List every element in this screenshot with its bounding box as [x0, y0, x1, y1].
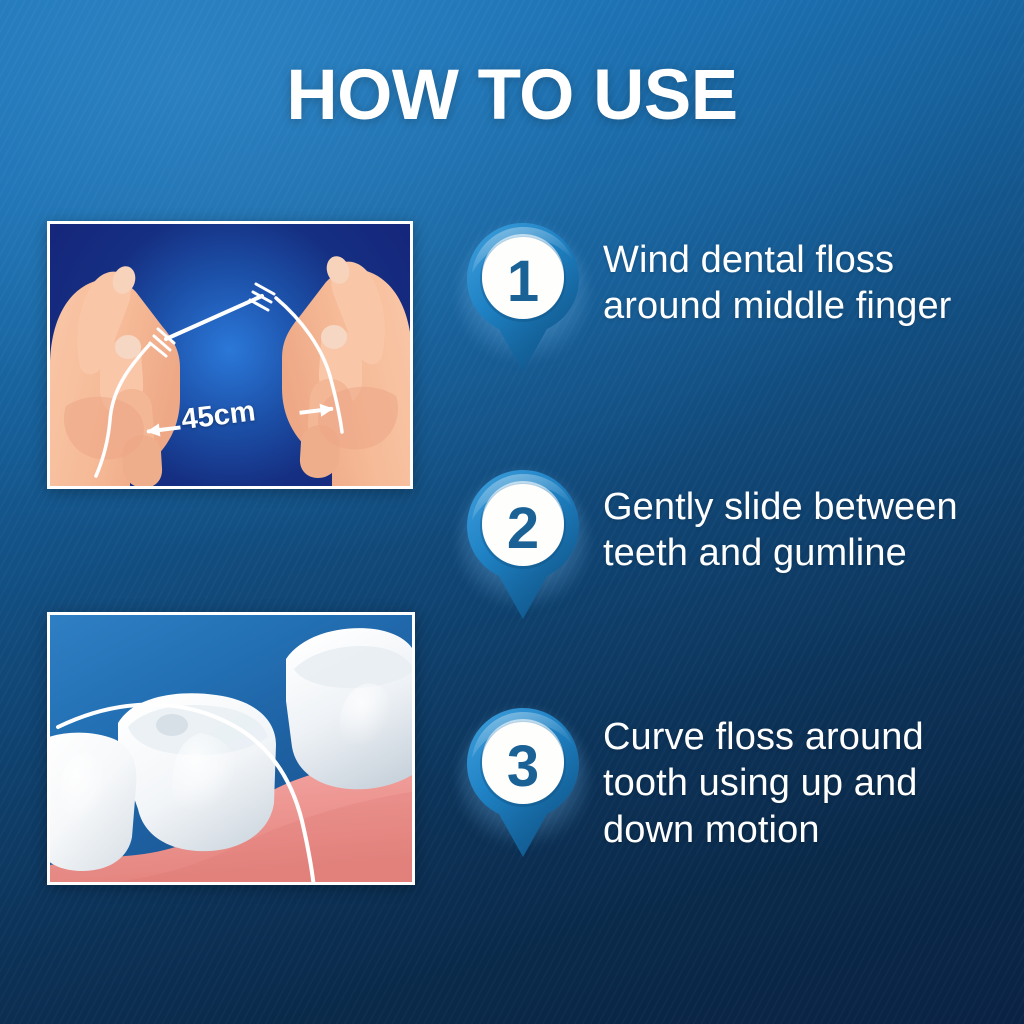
step-text-2: Gently slide between teeth and gumline: [603, 462, 958, 577]
step-badge-3: 3: [455, 700, 591, 865]
step-number-3: 3: [473, 718, 573, 818]
step-badge-2: 2: [455, 462, 591, 627]
arrow-right-icon: [299, 401, 335, 421]
step-number-2: 2: [473, 480, 573, 580]
illustration-floss-between-teeth: [47, 612, 415, 885]
floss-strand: [50, 224, 410, 486]
teeth-and-gum-illustration: [50, 615, 412, 882]
illustration-hands-holding-floss: 45cm: [47, 221, 413, 489]
step-badge-1: 1: [455, 215, 591, 380]
step-number-1: 1: [473, 233, 573, 333]
measurement-label: 45cm: [180, 397, 257, 435]
step-item-2: 2 Gently slide between teeth and gumline: [455, 462, 958, 627]
step-item-3: 3 Curve floss around tooth using up and …: [455, 700, 924, 865]
step-text-3: Curve floss around tooth using up and do…: [603, 700, 924, 853]
step-text-1: Wind dental floss around middle finger: [603, 215, 951, 330]
page-title: HOW TO USE: [0, 60, 1024, 131]
infographic-poster: HOW TO USE: [0, 0, 1024, 1024]
step-item-1: 1 Wind dental floss around middle finger: [455, 215, 951, 380]
arrow-left-icon: [146, 419, 182, 439]
